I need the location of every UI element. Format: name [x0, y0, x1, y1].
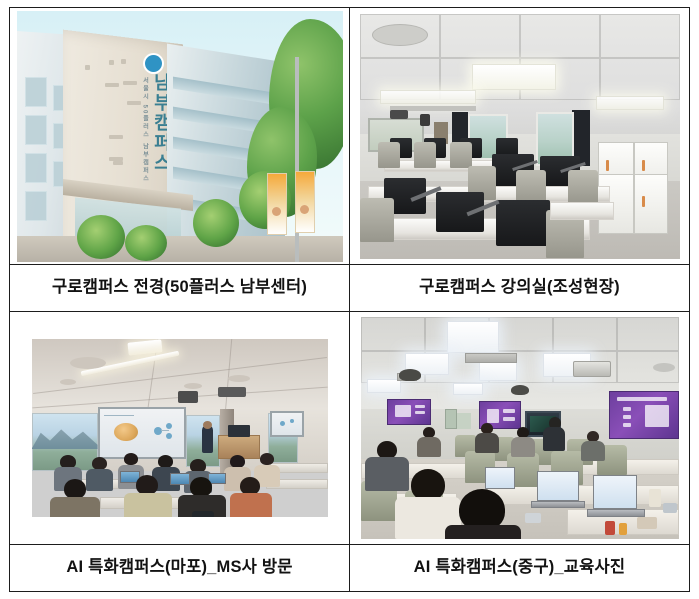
facade-slit — [85, 65, 90, 70]
photo-grid-page: 남부캠퍼스 서울시 50플러스 남부캠퍼스 — [0, 0, 699, 599]
participant-body — [581, 441, 605, 461]
fifty-plus-logo-icon — [145, 55, 162, 72]
participant-body — [511, 437, 535, 457]
guro-campus-classroom-photo — [360, 14, 680, 259]
desk-item — [663, 503, 677, 513]
caption-wrap-4: AI 특화캠퍼스(중구)_교육사진 — [350, 545, 689, 591]
caption-cell-bottom-left: AI 특화캠퍼스(마포)_MS사 방문 — [10, 545, 350, 592]
caption-row-bottom: AI 특화캠퍼스(마포)_MS사 방문 AI 특화캠퍼스(중구)_교육사진 — [10, 545, 690, 592]
chair — [360, 198, 394, 242]
laptop-screen — [485, 467, 515, 489]
slide-block — [645, 405, 669, 427]
photo-frame-1: 남부캠퍼스 서울시 50플러스 남부캠퍼스 — [10, 8, 349, 264]
guro-campus-exterior-photo: 남부캠퍼스 서울시 50플러스 남부캠퍼스 — [17, 11, 343, 262]
building-sign-subtext: 서울시 50플러스 남부캠퍼스 — [141, 77, 150, 183]
audience-body — [86, 469, 113, 491]
laptop-screen — [593, 475, 637, 509]
slide-node — [166, 423, 172, 429]
caption-cell-top-left: 구로캠퍼스 전경(50플러스 남부센터) — [10, 265, 350, 312]
slide-block — [623, 423, 631, 427]
slide-graphic — [114, 423, 138, 441]
ceiling-light-panel — [367, 379, 401, 393]
photo-cell-bottom-right — [350, 312, 690, 545]
photo-grid-table: 남부캠퍼스 서울시 50플러스 남부캠퍼스 — [9, 7, 690, 592]
slide-block — [503, 409, 515, 413]
backpack — [192, 511, 214, 517]
chair — [378, 142, 400, 168]
laptop-screen — [537, 471, 579, 501]
ceiling-light-panel — [479, 361, 517, 381]
junggu-ai-campus-training-photo — [361, 317, 679, 539]
bush — [125, 225, 167, 261]
caption-wrap-2: 구로캠퍼스 강의실(조성현장) — [350, 265, 689, 311]
participant-body — [365, 457, 409, 491]
participant-body — [417, 437, 441, 457]
caption-cell-bottom-right: AI 특화캠퍼스(중구)_교육사진 — [350, 545, 690, 592]
slide-title — [104, 415, 134, 416]
desk-item — [619, 523, 627, 535]
locker-handle[interactable] — [642, 160, 645, 171]
slide-node — [154, 427, 162, 435]
downlight — [60, 379, 76, 385]
ceiling-light-panel — [380, 90, 476, 104]
slide-block — [623, 407, 631, 411]
ceiling-tile — [600, 58, 680, 100]
window — [25, 153, 47, 183]
presenter-body — [543, 427, 565, 451]
ceiling-tile — [617, 317, 679, 351]
laptop-base — [587, 509, 645, 517]
ceiling-tile — [520, 14, 600, 58]
ceiling-projector — [218, 387, 246, 397]
caption-text-3: AI 특화캠퍼스(마포)_MS사 방문 — [66, 558, 292, 578]
banner-portrait — [272, 207, 281, 216]
ceiling-tile — [361, 317, 425, 351]
monitor — [496, 200, 550, 246]
presenter — [202, 425, 213, 453]
desk-item — [637, 517, 657, 529]
caption-text-1: 구로캠퍼스 전경(50플러스 남부센터) — [52, 278, 307, 298]
photo-cell-top-left: 남부캠퍼스 서울시 50플러스 남부캠퍼스 — [10, 8, 350, 265]
audience-head — [136, 475, 158, 495]
ceiling-light-panel — [472, 64, 556, 90]
podium-monitor — [228, 425, 250, 437]
chair — [414, 142, 436, 168]
wall-speaker — [420, 114, 430, 126]
facade-slit — [113, 161, 123, 165]
ceiling-projector — [573, 361, 611, 377]
photo-row-top: 남부캠퍼스 서울시 50플러스 남부캠퍼스 — [10, 8, 690, 265]
mapo-ai-campus-ms-visit-photo — [32, 339, 328, 517]
street-banner — [267, 173, 287, 235]
bush — [193, 199, 239, 247]
slide-title-bar — [617, 397, 667, 401]
audience-head — [260, 453, 274, 465]
desk-item — [525, 513, 541, 523]
chair — [568, 170, 598, 204]
audience-head — [124, 453, 138, 465]
slide-block — [415, 405, 425, 408]
ceiling-vent — [465, 353, 517, 363]
facade-slit — [127, 101, 141, 105]
audience-head — [190, 477, 212, 497]
window — [25, 191, 47, 221]
ceiling-tile — [553, 317, 617, 351]
caption-row-top: 구로캠퍼스 전경(50플러스 남부센터) 구로캠퍼스 강의실(조성현장) — [10, 265, 690, 312]
locker-handle[interactable] — [606, 160, 609, 171]
slide-block — [415, 411, 425, 414]
banner-portrait — [300, 205, 309, 214]
downlight — [184, 383, 202, 389]
presenter-head — [203, 421, 212, 429]
ceiling-tile — [600, 14, 680, 58]
caption-wrap-3: AI 특화캠퍼스(마포)_MS사 방문 — [10, 545, 349, 591]
photo-frame-3 — [10, 312, 349, 544]
bush — [77, 215, 125, 259]
slide-block — [487, 409, 499, 423]
caption-text-2: 구로캠퍼스 강의실(조성현장) — [419, 278, 620, 298]
ceiling-projector — [178, 391, 198, 403]
photo-frame-2 — [350, 8, 689, 264]
facade-slit — [105, 83, 119, 87]
photo-cell-top-right — [350, 8, 690, 265]
facade-slit — [109, 157, 123, 161]
downlight — [70, 357, 106, 369]
facade-slit — [121, 59, 126, 64]
slide-node — [290, 419, 294, 423]
ceiling-fixture — [653, 363, 675, 372]
door — [445, 409, 457, 429]
slide-block — [503, 417, 515, 421]
photo-row-bottom — [10, 312, 690, 545]
door — [457, 413, 471, 429]
facade-slit — [109, 135, 123, 139]
laptop — [170, 473, 190, 485]
ceiling-light-panel — [453, 383, 483, 395]
ceiling-light-panel — [447, 321, 499, 353]
slide-node — [280, 421, 285, 426]
ceiling-speaker — [511, 385, 529, 395]
laptop-base — [531, 501, 585, 508]
slide-link — [161, 430, 169, 431]
window — [25, 77, 47, 107]
facade-slit — [123, 81, 137, 85]
desk-item — [649, 489, 661, 507]
audience-body — [230, 493, 272, 517]
photo-cell-bottom-left — [10, 312, 350, 545]
ceiling-speaker — [399, 369, 421, 381]
audience-head — [64, 479, 86, 499]
audience-body — [50, 497, 100, 517]
projector — [390, 110, 408, 119]
secondary-screen — [270, 411, 304, 437]
caption-cell-top-right: 구로캠퍼스 강의실(조성현장) — [350, 265, 690, 312]
audience-body — [124, 493, 172, 517]
chair — [516, 170, 546, 204]
ceiling-tile — [440, 14, 520, 58]
desk — [550, 202, 614, 220]
facade-slit — [109, 60, 114, 65]
desk-item — [605, 521, 615, 535]
caption-text-4: AI 특화캠퍼스(중구)_교육사진 — [414, 558, 626, 578]
caption-wrap-1: 구로캠퍼스 전경(50플러스 남부센터) — [10, 265, 349, 311]
air-diffuser — [372, 24, 428, 46]
window — [25, 115, 47, 145]
street-banner — [295, 171, 315, 233]
slide-block — [395, 405, 411, 417]
participant-body — [445, 525, 521, 539]
chair — [450, 142, 472, 168]
locker — [634, 174, 668, 234]
photo-frame-4 — [350, 312, 689, 544]
downlight — [228, 375, 250, 382]
slide-node — [166, 433, 172, 439]
slide-block — [623, 415, 631, 419]
participant-body — [475, 433, 499, 453]
locker-handle[interactable] — [642, 196, 645, 207]
ceiling-light-panel — [596, 96, 664, 110]
